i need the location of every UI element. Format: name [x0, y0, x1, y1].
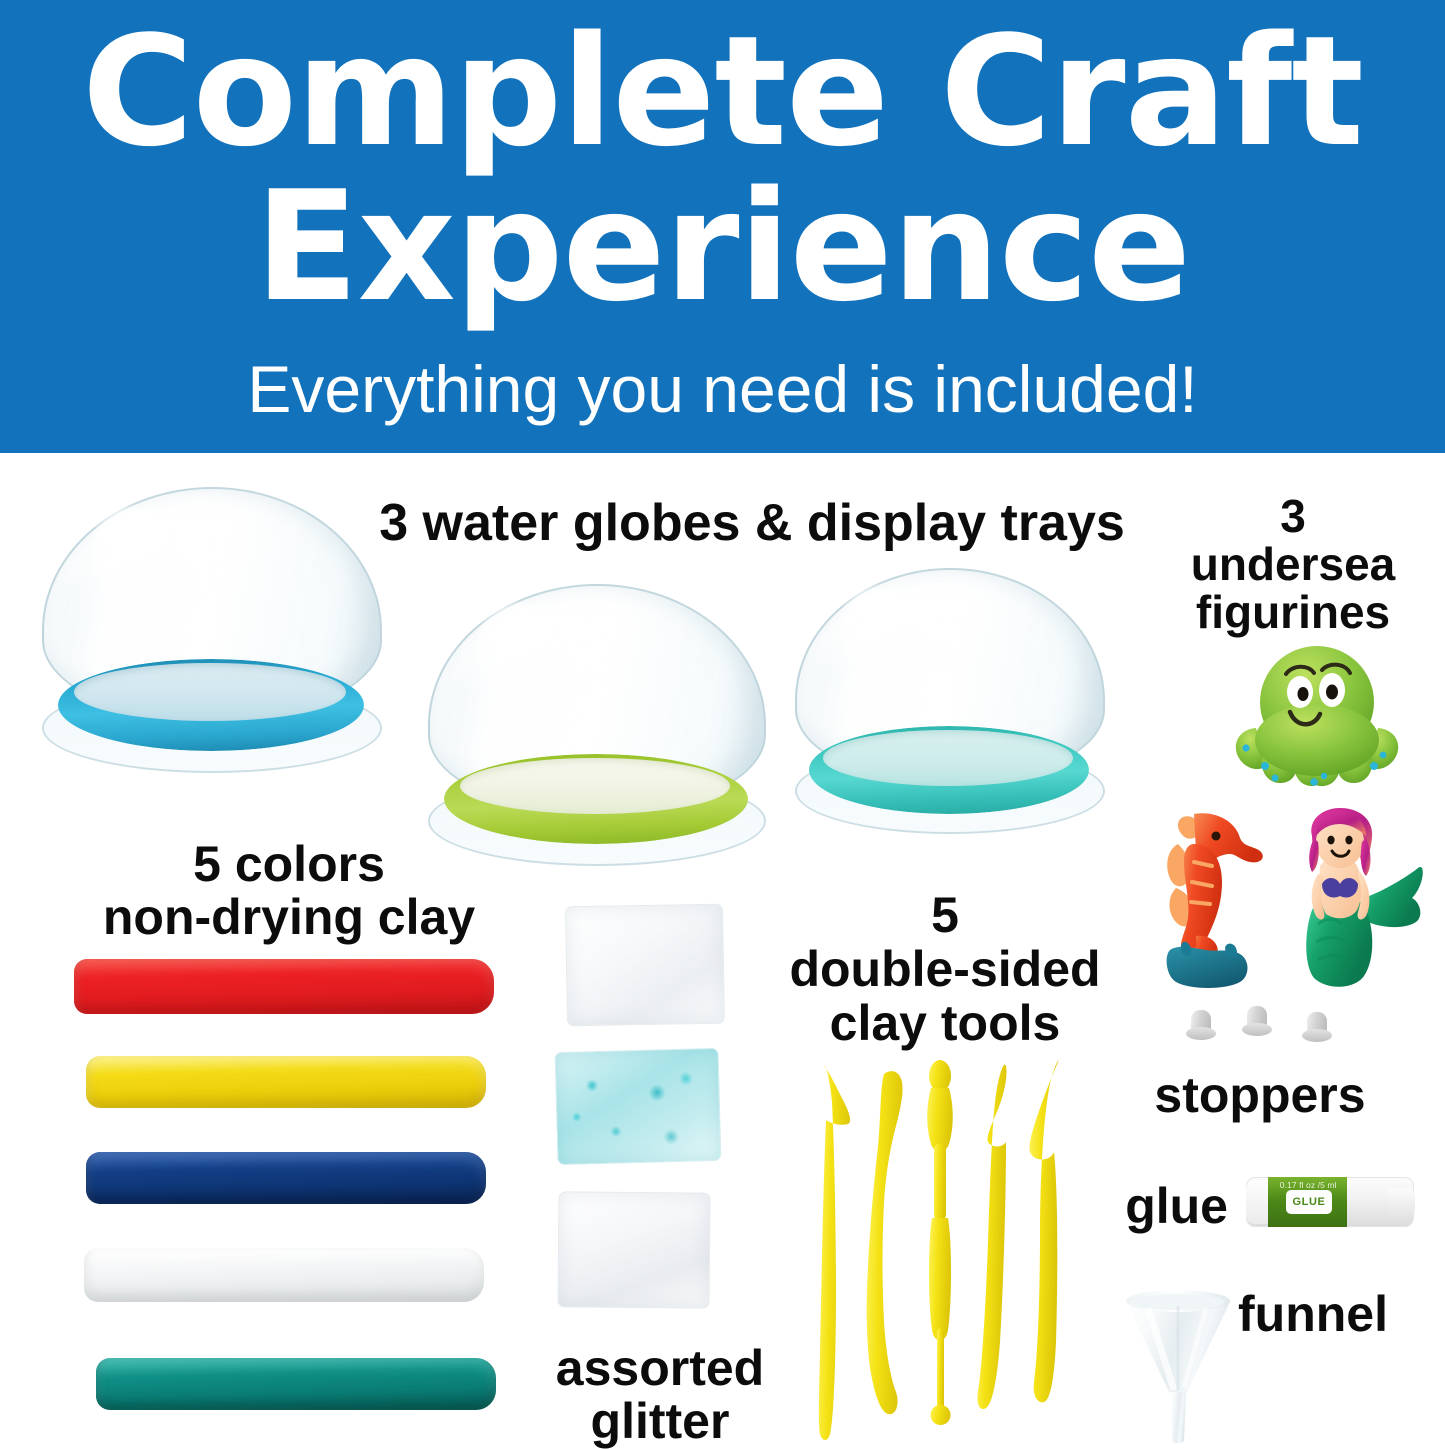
- stopper-flange: [1302, 1029, 1332, 1042]
- label-water-globes: 3 water globes & display trays: [372, 496, 1132, 551]
- product-infographic: Complete Craft Experience Everything you…: [0, 0, 1445, 1445]
- glitter-packet-teal: [555, 1048, 722, 1165]
- glue-tube-cap: [1246, 1180, 1270, 1224]
- glue-label-text: GLUE: [1293, 1196, 1326, 1208]
- tool-2-curved-blade: [867, 1071, 903, 1414]
- glitter-packet-clear-bottom: [557, 1191, 710, 1308]
- glue-volume-text: 0.17 fl oz /5 ml: [1273, 1180, 1344, 1190]
- tool-4-pointed-spatula: [977, 1065, 1006, 1409]
- label-assorted-glitter: assorted glitter: [500, 1342, 820, 1448]
- glue-label-window: GLUE: [1286, 1190, 1331, 1214]
- header-banner: Complete Craft Experience Everything you…: [0, 0, 1445, 453]
- glue-tube-tip: [1388, 1188, 1415, 1216]
- tool-5-flat-knife: [1029, 1060, 1058, 1402]
- header-title-line1: Complete Craft: [82, 18, 1363, 167]
- globe-water-surface: [823, 730, 1073, 786]
- header-title-line2: Experience: [255, 173, 1190, 322]
- globe-water-surface: [74, 663, 346, 721]
- header-subtitle: Everything you need is included!: [247, 351, 1197, 427]
- seahorse-figurine: [1164, 800, 1274, 988]
- label-glue: glue: [1108, 1180, 1228, 1233]
- glue-tube: 0.17 fl oz /5 ml GLUE: [1246, 1177, 1414, 1227]
- water-globe-turquoise: [795, 568, 1105, 858]
- label-undersea-figurines: 3 undersea figurines: [1148, 493, 1438, 636]
- stopper-2: [1242, 1006, 1272, 1038]
- octopus-figurine: [1228, 636, 1406, 804]
- label-clay-tools: 5 double-sided clay tools: [775, 888, 1115, 1050]
- tool-1-angled-blade: [819, 1066, 850, 1440]
- water-globe-blue: [42, 487, 382, 777]
- clay-white: [84, 1248, 484, 1302]
- tool-3-double-ball-stylus: [927, 1060, 953, 1425]
- clay-red: [74, 959, 494, 1014]
- stopper-flange: [1186, 1027, 1216, 1040]
- mermaid-figurine: [1278, 806, 1424, 992]
- water-globe-green: [428, 584, 766, 874]
- clay-teal: [96, 1358, 496, 1410]
- glitter-packet-clear-top: [565, 904, 725, 1027]
- label-clay-colors: 5 colors non-drying clay: [74, 838, 504, 944]
- stopper-flange: [1242, 1023, 1272, 1036]
- stopper-3: [1302, 1012, 1332, 1044]
- label-stoppers: stoppers: [1140, 1069, 1380, 1122]
- clay-tools-group: [792, 1052, 1072, 1445]
- globe-water-surface: [460, 758, 730, 814]
- stopper-1: [1186, 1010, 1216, 1042]
- clay-blue: [86, 1152, 486, 1204]
- clay-yellow: [86, 1056, 486, 1108]
- funnel: [1122, 1280, 1234, 1445]
- label-funnel: funnel: [1238, 1288, 1438, 1341]
